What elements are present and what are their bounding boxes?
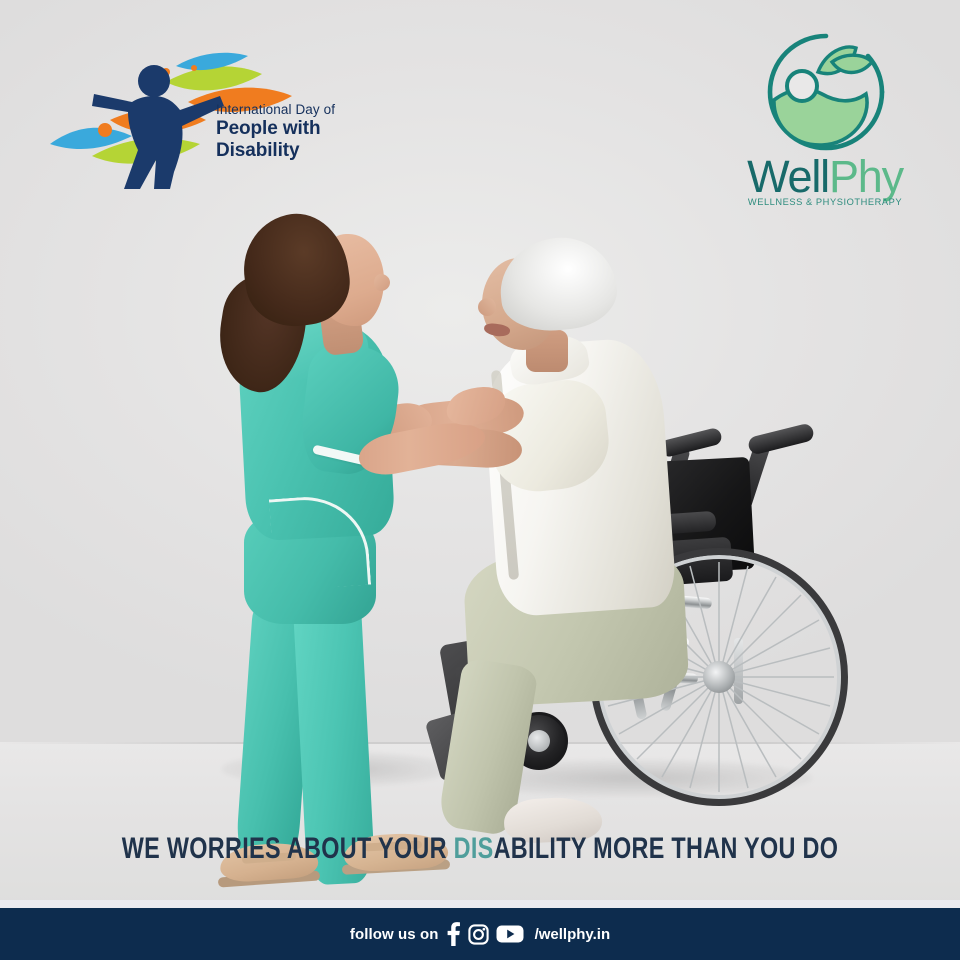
nurse-nose bbox=[374, 274, 390, 291]
footer-bar: follow us on /wellphy.in bbox=[0, 908, 960, 960]
footer-label: follow us on bbox=[350, 926, 439, 943]
poster-tagline: WE WORRIES ABOUT YOUR DISABILITY MORE TH… bbox=[106, 832, 855, 866]
nurse bbox=[208, 196, 478, 786]
instagram-icon[interactable] bbox=[468, 924, 489, 945]
footer-divider bbox=[0, 900, 960, 908]
footer-handle[interactable]: /wellphy.in bbox=[535, 926, 611, 943]
elderly-woman bbox=[448, 232, 748, 792]
youtube-icon[interactable] bbox=[496, 924, 524, 944]
tagline-part-2: ABILITY bbox=[494, 832, 587, 865]
tagline-part-1: WE WORRIES ABOUT YOUR bbox=[122, 832, 454, 865]
facebook-icon[interactable] bbox=[446, 922, 461, 946]
elderly-nose bbox=[478, 298, 496, 316]
wheelchair-grip-right bbox=[747, 422, 815, 455]
poster-canvas: International Day of People with Disabil… bbox=[0, 0, 960, 960]
main-photo bbox=[0, 0, 960, 800]
elderly-hair bbox=[496, 232, 621, 336]
tagline-part-3: MORE THAN YOU DO bbox=[586, 832, 838, 865]
tagline-highlight: DIS bbox=[454, 832, 494, 865]
